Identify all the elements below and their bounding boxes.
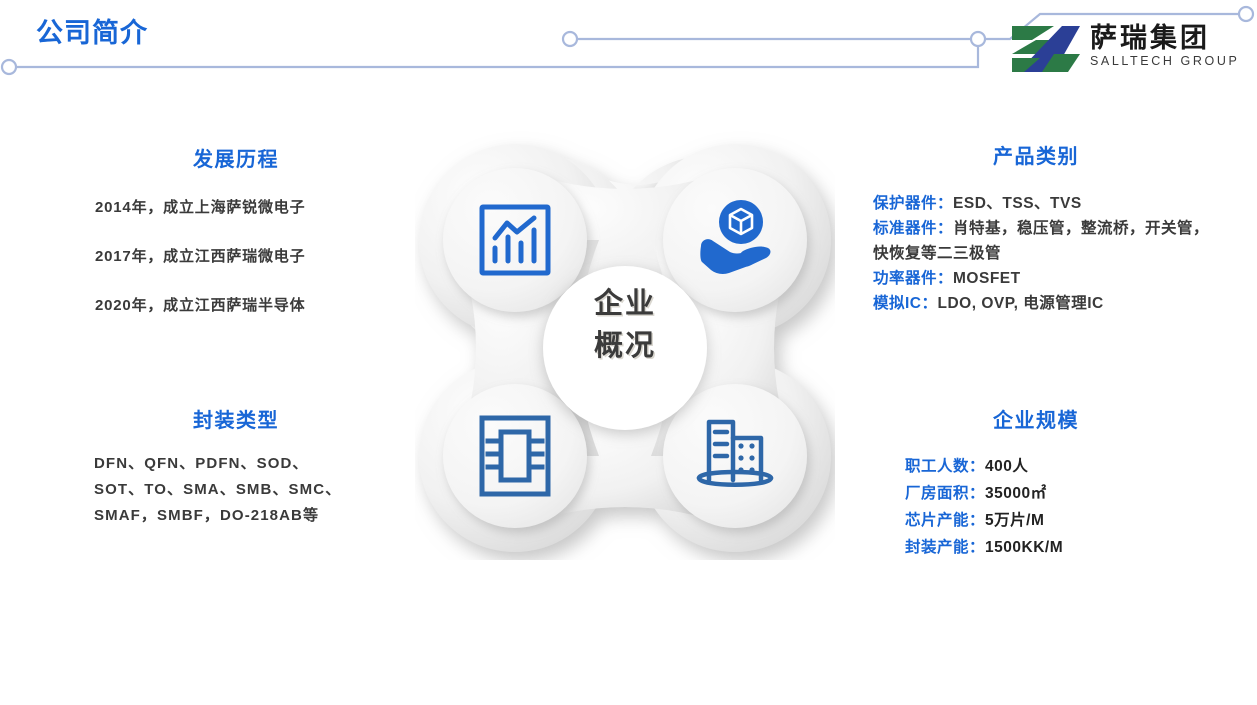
- list-item: 厂房面积：35000㎡: [905, 480, 1216, 507]
- company-logo: 萨瑞集团 SALLTECH GROUP: [1010, 22, 1240, 78]
- scale-metrics-list: 职工人数：400人 厂房面积：35000㎡ 芯片产能：5万片/M 封装产能：15…: [856, 453, 1216, 561]
- list-item: 标准器件：肖特基，稳压管，整流桥，开关管，快恢复等二三极管: [873, 216, 1213, 266]
- section-products: 产品类别 保护器件：ESD、TSS、TVS 标准器件：肖特基，稳压管，整流桥，开…: [856, 140, 1216, 316]
- center-disc: [543, 266, 707, 430]
- list-item: 模拟IC：LDO, OVP, 电源管理IC: [873, 291, 1213, 316]
- packages-body-text: DFN、QFN、PDFN、SOD、SOT、TO、SMA、SMB、SMC、SMAF…: [56, 451, 344, 529]
- product-value: LDO, OVP, 电源管理IC: [938, 295, 1104, 312]
- product-label: 模拟IC：: [873, 295, 938, 312]
- page-title: 公司简介: [36, 11, 148, 50]
- scale-value: 400人: [985, 458, 1028, 475]
- list-item: 职工人数：400人: [905, 453, 1216, 480]
- scale-label: 职工人数：: [905, 458, 985, 475]
- section-history-title: 发展历程: [56, 143, 416, 172]
- product-value: ESD、TSS、TVS: [953, 195, 1082, 212]
- center-infographic: 企业 概况: [415, 128, 835, 560]
- list-item: 封装产能：1500KK/M: [905, 534, 1216, 561]
- product-label: 保护器件：: [873, 195, 953, 212]
- section-packages-title: 封装类型: [56, 404, 416, 433]
- product-value: MOSFET: [953, 270, 1021, 287]
- list-item: 芯片产能：5万片/M: [905, 507, 1216, 534]
- list-item: 2014年，成立上海萨锐微电子: [56, 196, 416, 217]
- section-packages: 封装类型 DFN、QFN、PDFN、SOD、SOT、TO、SMA、SMB、SMC…: [56, 404, 416, 529]
- scale-label: 封装产能：: [905, 539, 985, 556]
- section-products-title: 产品类别: [856, 140, 1216, 169]
- products-list: 保护器件：ESD、TSS、TVS 标准器件：肖特基，稳压管，整流桥，开关管，快恢…: [856, 191, 1213, 316]
- section-history: 发展历程 2014年，成立上海萨锐微电子 2017年，成立江西萨瑞微电子 202…: [56, 143, 416, 343]
- list-item: 保护器件：ESD、TSS、TVS: [873, 191, 1213, 216]
- section-scale-title: 企业规模: [856, 404, 1216, 433]
- section-scale: 企业规模 职工人数：400人 厂房面积：35000㎡ 芯片产能：5万片/M 封装…: [856, 404, 1216, 561]
- salltech-sl-logo-icon: [1010, 24, 1082, 74]
- quatrefoil-diagram: [415, 128, 835, 560]
- product-label: 标准器件：: [873, 220, 953, 237]
- list-item: 2020年，成立江西萨瑞半导体: [56, 294, 416, 315]
- list-item: 功率器件：MOSFET: [873, 266, 1213, 291]
- logo-text-block: 萨瑞集团 SALLTECH GROUP: [1090, 22, 1242, 69]
- history-timeline-list: 2014年，成立上海萨锐微电子 2017年，成立江西萨瑞微电子 2020年，成立…: [56, 196, 416, 315]
- scale-value: 1500KK/M: [985, 539, 1063, 556]
- scale-label: 厂房面积：: [905, 485, 985, 502]
- page-header: 公司简介 萨瑞集团 SALLTECH GROUP: [0, 0, 1257, 95]
- product-label: 功率器件：: [873, 270, 953, 287]
- scale-value: 35000㎡: [985, 485, 1047, 502]
- scale-label: 芯片产能：: [905, 512, 985, 529]
- list-item: 2017年，成立江西萨瑞微电子: [56, 245, 416, 266]
- scale-value: 5万片/M: [985, 512, 1044, 529]
- logo-name-en: SALLTECH GROUP: [1090, 54, 1242, 69]
- logo-name-cn: 萨瑞集团: [1090, 22, 1242, 54]
